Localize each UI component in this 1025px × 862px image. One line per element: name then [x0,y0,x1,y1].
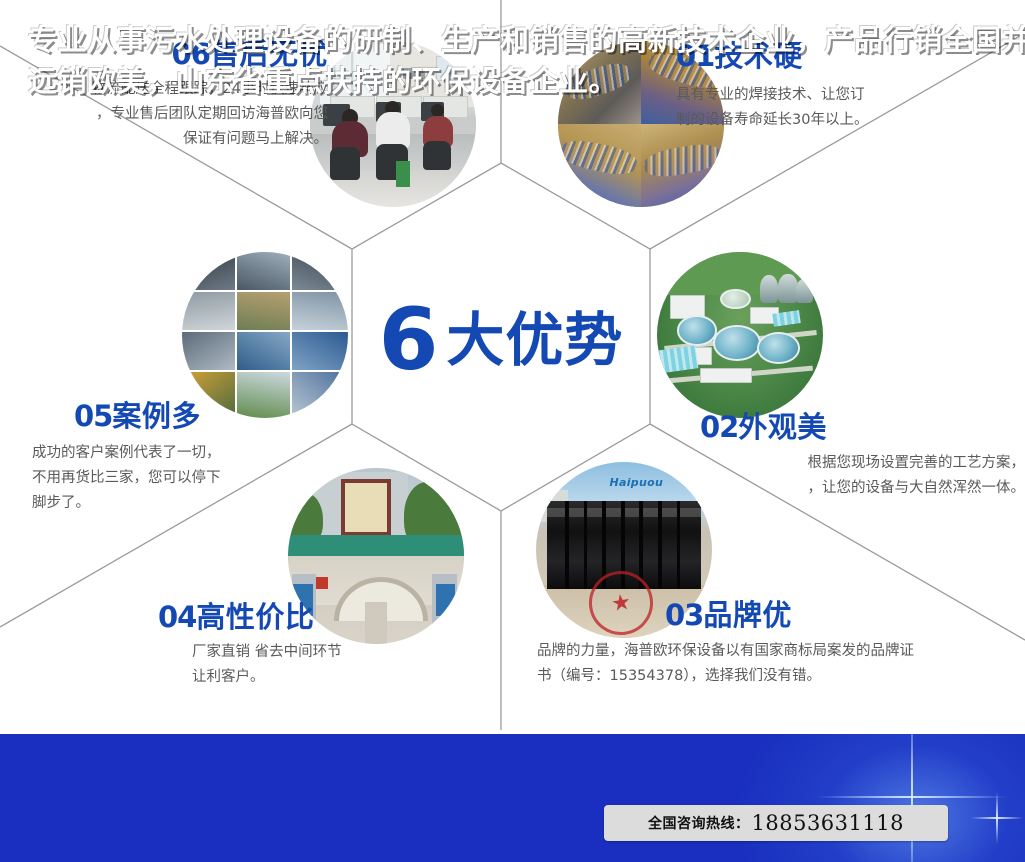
advantage-block-05: 05案例多 成功的客户案例代表了一切， 不用再货比三家，您可以停下 脚步了。 [32,402,332,516]
banner-slogan-line-2: 远销欧美，山东省重点扶持的环保设备企业。 [28,61,908,102]
advantage-02-line-2: ，让您的设备与大自然浑然一体。 [700,476,1025,501]
center-suffix: 大优势 [446,311,623,369]
advantage-04-number: 04 [158,600,196,634]
infographic-stage: 6 大优势 [0,0,1025,862]
case-collage-photo [182,252,348,418]
advantage-03-number: 03 [665,598,703,632]
advantage-02-line-1: 根据您现场设置完善的工艺方案， [700,451,1025,476]
advantage-04-line-2: 让利客户。 [192,665,488,690]
advantage-06-line-3: 保证有问题马上解决。 [18,127,328,152]
advantage-05-line-2: 不用再货比三家，您可以停下 [32,466,332,491]
advantage-05-number: 05 [74,399,112,433]
advantage-03-title: 品牌优 [703,598,792,632]
center-number: 6 [379,297,437,383]
advantage-03-line-2: 书（编号：15354378），选择我们没有错。 [537,664,967,689]
advantage-04-title: 高性价比 [196,600,314,634]
hotline-label: 全国咨询热线： [648,813,750,833]
advantage-block-04: 04高性价比 厂家直销 省去中间环节 让利客户。 [158,603,488,690]
banner-slogan-line-1: 专业从事污水处理设备的研制、生产和销售的高新技术企业，产品行销全国并 [28,20,908,61]
center-headline: 6 大优势 [352,295,650,385]
brand-logo-text: Haipuou [610,476,664,489]
advantage-03-heading: 03品牌优 [665,601,967,630]
advantage-04-line-1: 厂家直销 省去中间环节 [192,640,488,665]
advantage-01-line-2: 制的设备寿命延长30年以上。 [676,108,1011,133]
advantage-02-heading: 02外观美 [700,413,1025,442]
advantage-02-number: 02 [700,410,738,444]
advantage-04-heading: 04高性价比 [158,603,488,632]
advantage-06-line-2: ，专业售后团队定期回访海普欧向您 [18,102,328,127]
hotline-box[interactable]: 全国咨询热线： 18853631118 [604,805,948,841]
advantage-block-03: 03品牌优 品牌的力量，海普欧环保设备以有国家商标局案发的品牌证 书（编号：15… [537,601,967,689]
advantage-05-title: 案例多 [112,399,201,433]
brand-logo: Haipuou [606,473,666,492]
advantage-05-heading: 05案例多 [74,402,332,431]
advantage-02-title: 外观美 [738,410,827,444]
banner-slogan: 专业从事污水处理设备的研制、生产和销售的高新技术企业，产品行销全国并 远销欧美，… [28,20,908,102]
advantage-05-line-1: 成功的客户案例代表了一切， [32,441,332,466]
advantage-05-line-3: 脚步了。 [32,491,332,516]
sparkle-small-icon [971,792,1023,844]
bottom-banner [0,734,1025,862]
advantage-block-02: 02外观美 根据您现场设置完善的工艺方案， ，让您的设备与大自然浑然一体。 [700,413,1025,501]
advantage-03-line-1: 品牌的力量，海普欧环保设备以有国家商标局案发的品牌证 [537,639,967,664]
aerial-treatment-plant-photo [657,252,823,418]
hotline-number: 18853631118 [752,811,904,835]
